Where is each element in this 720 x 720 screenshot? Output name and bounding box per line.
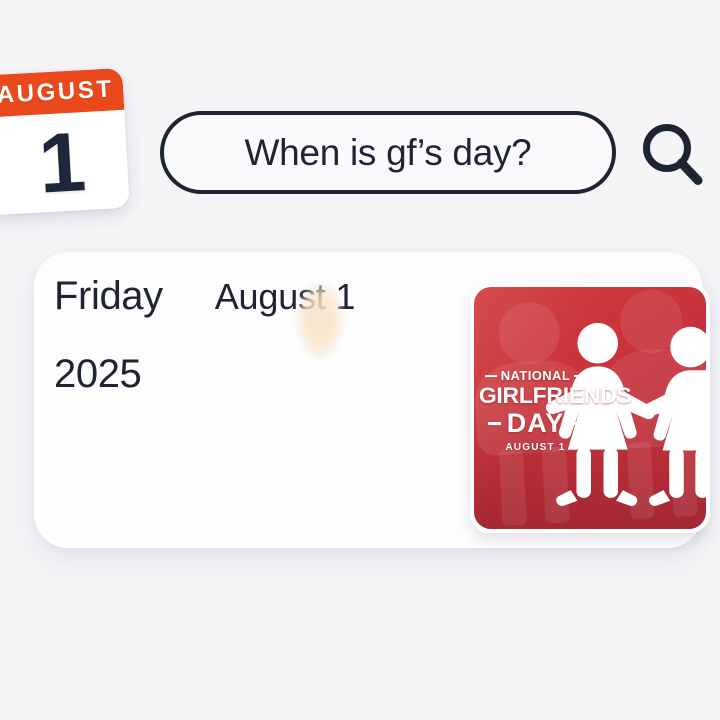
calendar-icon: AUGUST 1 xyxy=(0,68,130,216)
screen: AUGUST 1 When is gf’s day? Friday August… xyxy=(0,0,720,720)
date-primary-line: Friday August 1 xyxy=(44,276,464,316)
search-input[interactable]: When is gf’s day? xyxy=(160,111,616,194)
calendar-day-number: 1 xyxy=(36,119,85,205)
result-weekday: Friday xyxy=(44,276,163,316)
calendar-day-area: 1 xyxy=(0,110,130,216)
search-bar: When is gf’s day? xyxy=(160,111,712,197)
search-icon[interactable] xyxy=(637,120,707,190)
search-query-text: When is gf’s day? xyxy=(245,134,532,171)
date-block: Friday August 1 2025 xyxy=(44,276,464,394)
poster-line-national: NATIONAL xyxy=(481,369,590,382)
poster-line-day: DAY xyxy=(481,410,590,437)
result-year: 2025 xyxy=(44,354,464,394)
result-thumbnail[interactable]: NATIONAL GIRLFRIENDS DAY AUGUST 1 xyxy=(470,283,710,533)
poster-line-girlfriends: GIRLFRIENDS xyxy=(479,385,592,407)
poster-text-block: NATIONAL GIRLFRIENDS DAY AUGUST 1 xyxy=(481,369,590,453)
result-card[interactable]: Friday August 1 2025 xyxy=(34,252,702,548)
calendar-month-label: AUGUST xyxy=(0,77,114,108)
result-month-day: August 1 xyxy=(163,279,356,315)
poster-line-date: AUGUST 1 xyxy=(481,443,590,453)
thumbnail-frame: NATIONAL GIRLFRIENDS DAY AUGUST 1 xyxy=(474,287,706,529)
